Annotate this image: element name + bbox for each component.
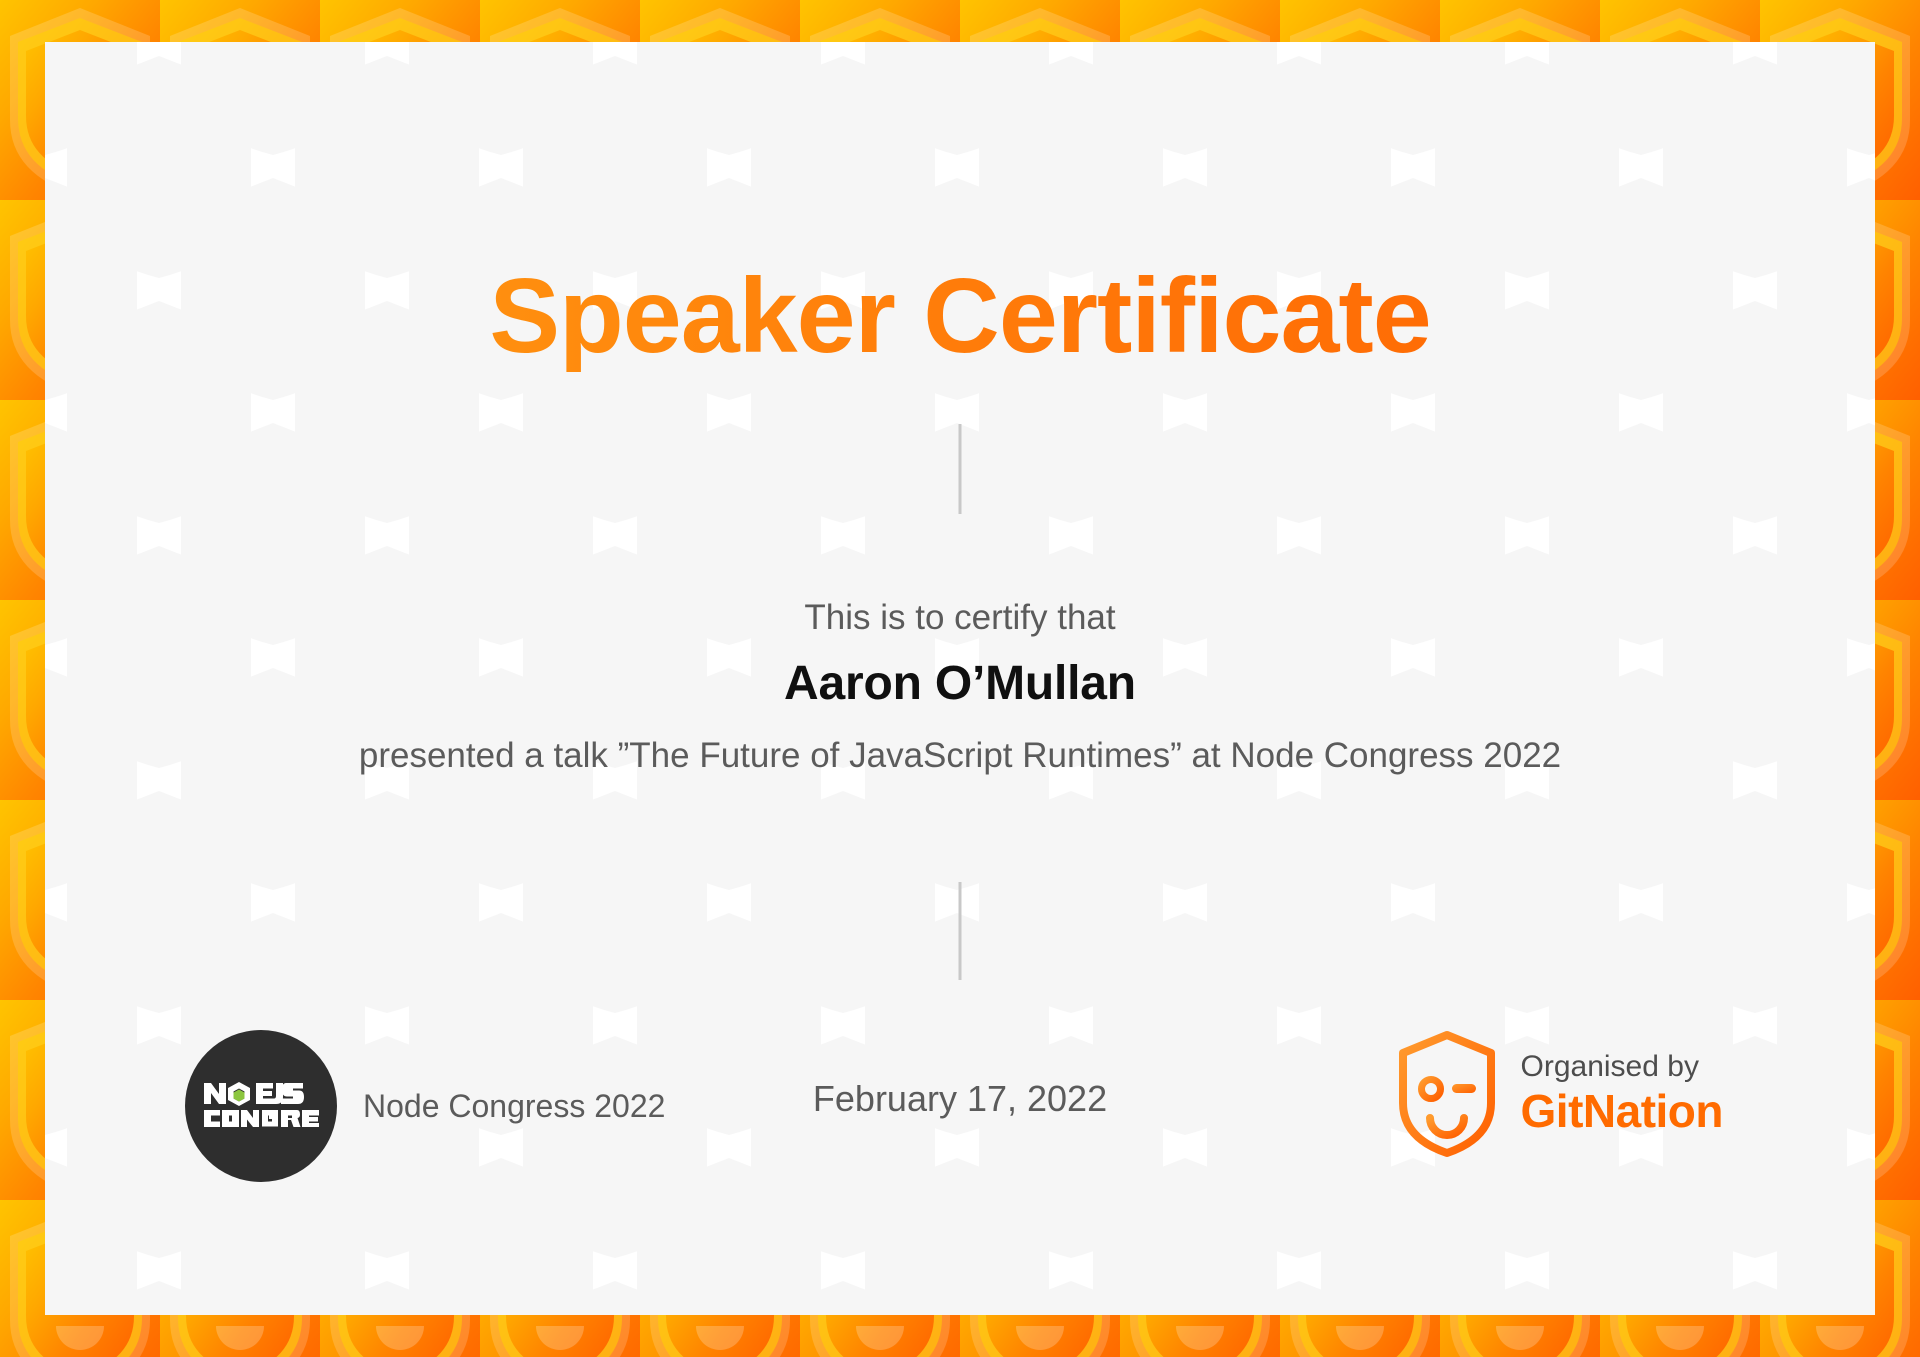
certificate-card: Speaker Certificate This is to certify t… bbox=[45, 42, 1875, 1315]
page-title: Speaker Certificate bbox=[45, 261, 1875, 372]
organiser-name: GitNation bbox=[1521, 1085, 1723, 1138]
divider-bottom bbox=[959, 882, 962, 980]
divider-top bbox=[959, 424, 962, 514]
talk-description: presented a talk ”The Future of JavaScri… bbox=[45, 736, 1875, 776]
recipient-name: Aaron O’Mullan bbox=[45, 656, 1875, 711]
certificate-root: Speaker Certificate This is to certify t… bbox=[0, 0, 1920, 1357]
certificate-footer: Node Congress 2022 February 17, 2022 bbox=[45, 1020, 1875, 1220]
certify-line: This is to certify that bbox=[45, 598, 1875, 638]
organised-by-label: Organised by bbox=[1521, 1050, 1723, 1085]
organiser-block: Organised by GitNation bbox=[1395, 1030, 1723, 1158]
gitnation-shield-face-icon bbox=[1395, 1030, 1499, 1158]
